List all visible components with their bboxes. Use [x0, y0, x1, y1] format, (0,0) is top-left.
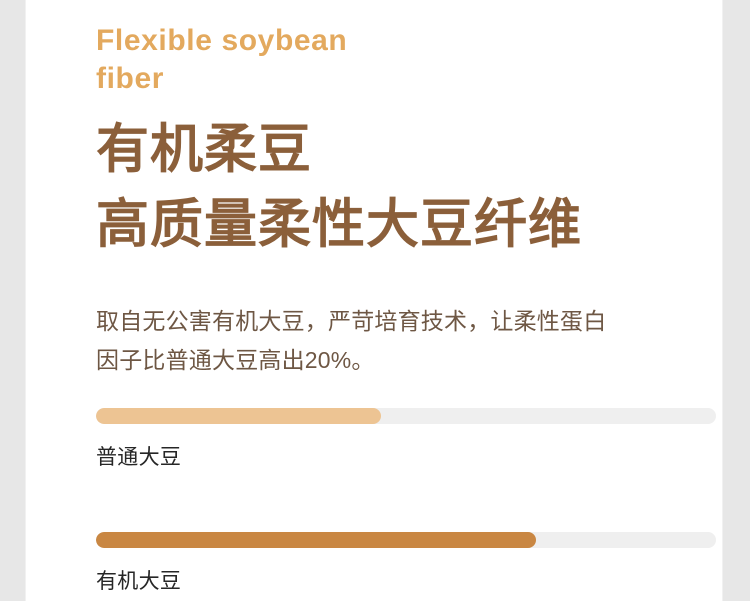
viewer-gutter-right [722, 0, 750, 601]
hero-content: Flexible soybean fiber 有机柔豆 高质量柔性大豆纤维 取自… [96, 0, 716, 601]
bar-fill-organic-soybean [96, 532, 536, 548]
sheet-edge-right [722, 0, 723, 601]
headline-line-2: 高质量柔性大豆纤维 [96, 187, 716, 262]
page-viewport: Flexible soybean fiber 有机柔豆 高质量柔性大豆纤维 取自… [0, 0, 750, 601]
product-detail-sheet: Flexible soybean fiber 有机柔豆 高质量柔性大豆纤维 取自… [26, 0, 722, 601]
viewer-gutter-left [0, 0, 26, 601]
bar-label-ordinary-soybean: 普通大豆 [96, 445, 716, 470]
eyebrow-headline: Flexible soybean fiber [96, 22, 656, 99]
bar-label-organic-soybean: 有机大豆 [96, 569, 716, 594]
bar-track-ordinary-soybean [96, 408, 716, 424]
bar-group-ordinary-soybean: 普通大豆 [96, 408, 716, 470]
bar-track-organic-soybean [96, 532, 716, 548]
bar-group-organic-soybean: 有机大豆 [96, 532, 716, 594]
bar-fill-ordinary-soybean [96, 408, 381, 424]
comparison-bar-chart: 普通大豆 有机大豆 [96, 408, 716, 594]
headline-line-1: 有机柔豆 [96, 112, 716, 187]
page-title: 有机柔豆 高质量柔性大豆纤维 [96, 112, 716, 263]
hero-description: 取自无公害有机大豆，严苛培育技术，让柔性蛋白 因子比普通大豆高出20%。 [96, 302, 664, 379]
sheet-edge-left [25, 0, 26, 601]
